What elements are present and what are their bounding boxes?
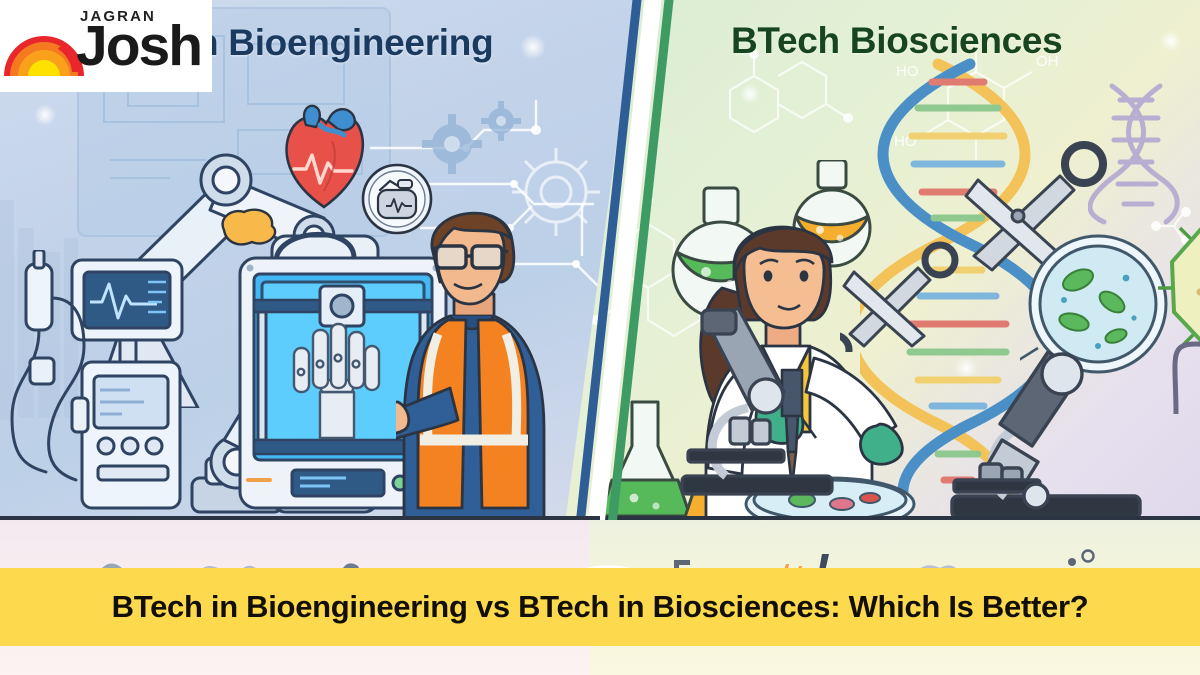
pacemaker-device-icon xyxy=(358,160,436,238)
headline-banner: BTech in Bioengineering vs BTech in Bios… xyxy=(0,568,1200,646)
round-flask-orange-icon xyxy=(782,160,888,280)
female-scientist-illustration xyxy=(690,200,960,530)
printer-tower-icon xyxy=(266,230,386,520)
gear-small-icon xyxy=(478,98,524,144)
dna-small-purple-icon xyxy=(1088,78,1184,228)
molecule-node-icon xyxy=(1146,196,1200,256)
infographic-canvas: HO OH HO xyxy=(0,0,1200,675)
male-engineer-illustration xyxy=(396,188,596,523)
sunrise-arc-logo-icon xyxy=(2,18,84,80)
robotic-arm-small-icon xyxy=(120,300,400,530)
3d-bioprinter-icon xyxy=(234,222,454,522)
crispr-scissors-icon xyxy=(962,138,1112,278)
circuit-trace-icon xyxy=(360,88,630,318)
erlenmeyer-orange-icon xyxy=(676,420,784,530)
svg-text:HO: HO xyxy=(896,63,919,80)
gear-outline-icon xyxy=(496,132,616,252)
jagran-josh-logo[interactable]: JAGRAN Josh xyxy=(0,0,212,92)
bioreactor-tank-icon xyxy=(1158,318,1200,528)
virus-cell-icon xyxy=(1152,200,1200,380)
svg-text:HO: HO xyxy=(894,133,917,150)
robotic-arm-large-icon xyxy=(74,108,374,408)
round-flask-green-icon xyxy=(658,180,788,330)
headline-text: BTech in Bioengineering vs BTech in Bios… xyxy=(112,589,1089,625)
crispr-scissors-small-icon xyxy=(840,238,960,352)
gear-solid-icon xyxy=(418,110,488,180)
anatomical-heart-icon xyxy=(276,95,372,210)
microscope-small-icon xyxy=(678,300,848,500)
dna-double-helix-icon xyxy=(860,58,1050,508)
right-panel-title: BTech Biosciences xyxy=(731,20,1062,62)
left-panel-title: h Bioengineering xyxy=(196,22,493,64)
bench-surface-line xyxy=(0,516,600,520)
bio-material-sample-icon xyxy=(212,200,284,252)
logo-josh-text: Josh xyxy=(76,18,201,75)
